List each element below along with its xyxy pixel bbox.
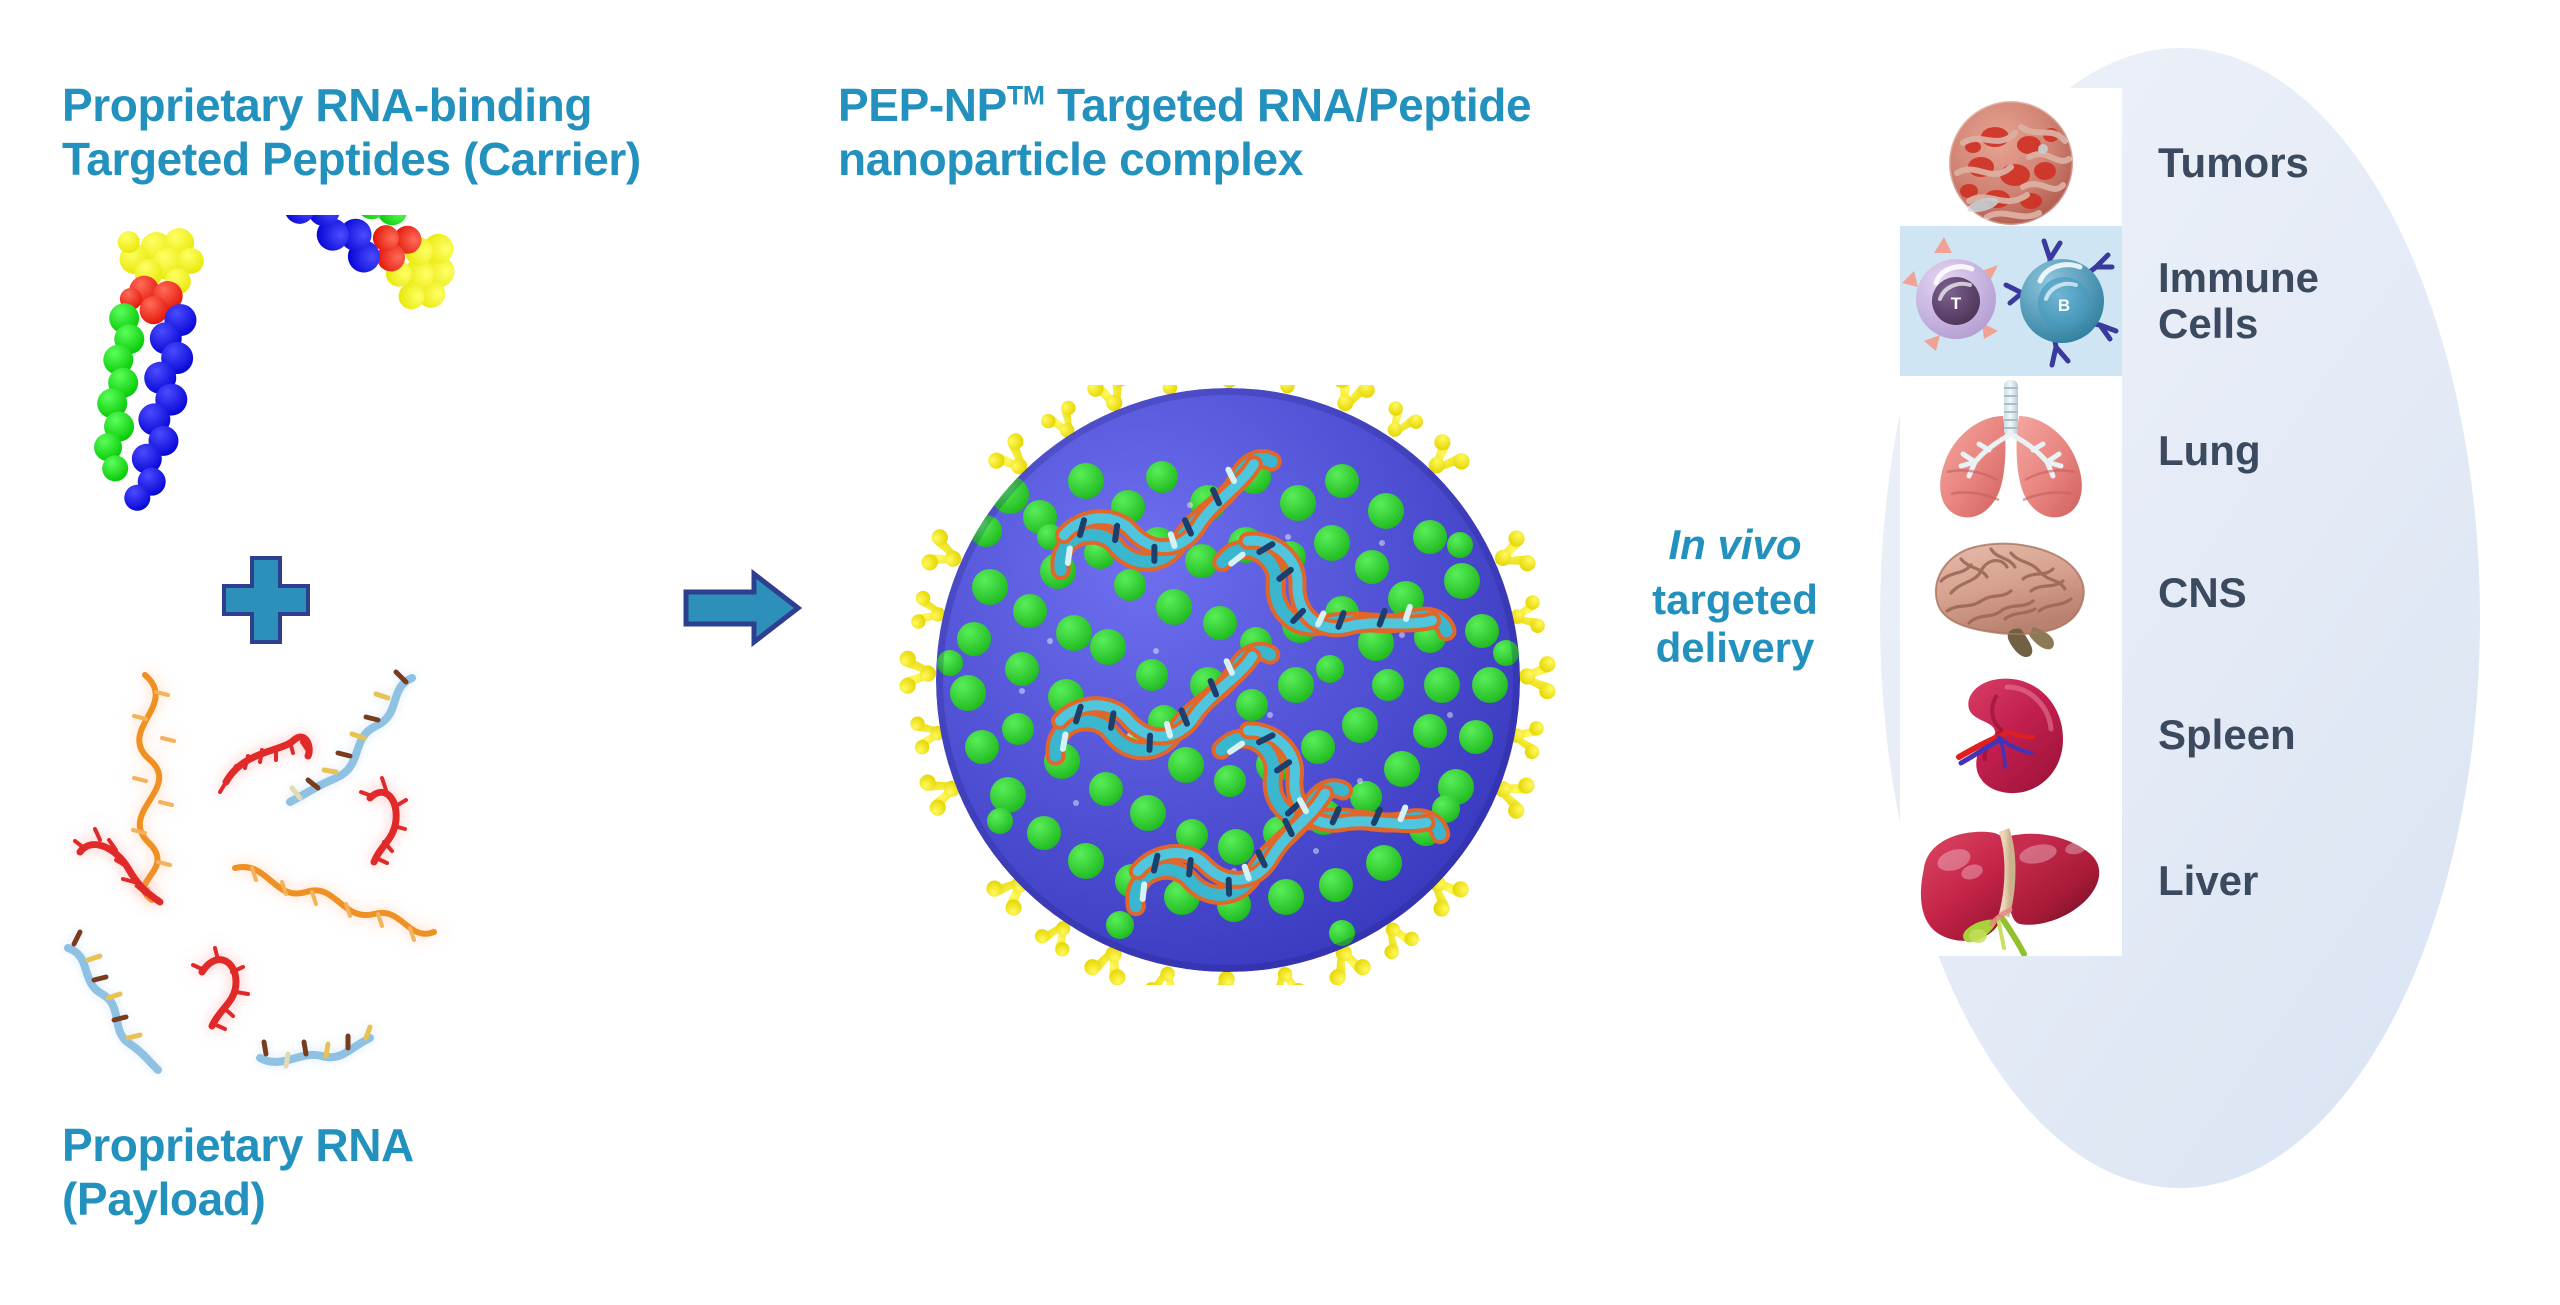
list-item: Liver xyxy=(1900,806,2520,956)
organ-label: Lung xyxy=(2158,428,2261,474)
list-item: T xyxy=(1900,226,2520,376)
rna-strand-blue xyxy=(290,672,412,802)
list-item: Spleen xyxy=(1900,660,2520,810)
cns-tile xyxy=(1900,518,2122,668)
organ-label: Tumors xyxy=(2158,140,2309,186)
heading-payload: Proprietary RNA (Payload) xyxy=(62,1118,702,1227)
rna-strand-red xyxy=(220,737,309,792)
tumor-spheroid-icon xyxy=(1911,93,2111,233)
rna-strand-red xyxy=(361,778,406,863)
organ-label: Immune Cells xyxy=(2158,255,2319,347)
rna-strand-blue xyxy=(68,932,158,1070)
trademark-superscript: TM xyxy=(1007,81,1045,111)
peptide-model-left xyxy=(81,220,211,515)
organ-label: Liver xyxy=(2158,858,2258,904)
rna-strand-orange xyxy=(235,867,434,940)
heading-carrier: Proprietary RNA-binding Targeted Peptide… xyxy=(62,78,762,187)
peptide-models-group xyxy=(60,215,480,515)
tumor-tile xyxy=(1900,88,2122,238)
brain-icon xyxy=(1911,523,2111,663)
lung-tile xyxy=(1900,376,2122,526)
spleen-icon xyxy=(1911,665,2111,805)
b-cell-marker: B xyxy=(2058,296,2070,315)
rna-payload-group xyxy=(30,630,490,1080)
liver-icon xyxy=(1906,806,2116,956)
heading-nanoparticle-complex: PEP-NPTM Targeted RNA/Peptide nanopartic… xyxy=(838,78,1668,187)
organ-label: CNS xyxy=(2158,570,2247,616)
liver-tile xyxy=(1900,806,2122,956)
list-item: Tumors xyxy=(1900,88,2520,238)
in-vivo-label: In vivo xyxy=(1620,522,1850,568)
immune-cells-tile: T xyxy=(1900,226,2122,376)
t-cell-marker: T xyxy=(1951,294,1962,313)
list-item: CNS xyxy=(1900,518,2520,668)
in-vivo-delivery-group: In vivo targeted delivery xyxy=(1620,522,1850,673)
list-item: Lung xyxy=(1900,376,2520,526)
rna-strand-red xyxy=(193,948,248,1029)
heading-complex-prefix: PEP-NP xyxy=(838,79,1007,131)
rna-strand-blue xyxy=(260,1027,370,1066)
lungs-icon xyxy=(1911,376,2111,526)
rna-strand-orange xyxy=(133,675,174,900)
peptide-model-right xyxy=(220,215,478,326)
immune-cells-icon: T xyxy=(1900,231,2122,371)
organ-label: Spleen xyxy=(2158,712,2296,758)
figure-canvas: Proprietary RNA-binding Targeted Peptide… xyxy=(0,0,2560,1305)
spleen-tile xyxy=(1900,660,2122,810)
targeted-delivery-label: targeted delivery xyxy=(1620,576,1850,673)
right-arrow-icon xyxy=(682,568,802,648)
nanoparticle-sphere-icon xyxy=(890,385,1570,985)
target-tissue-list: Tumors xyxy=(1900,48,2520,1198)
